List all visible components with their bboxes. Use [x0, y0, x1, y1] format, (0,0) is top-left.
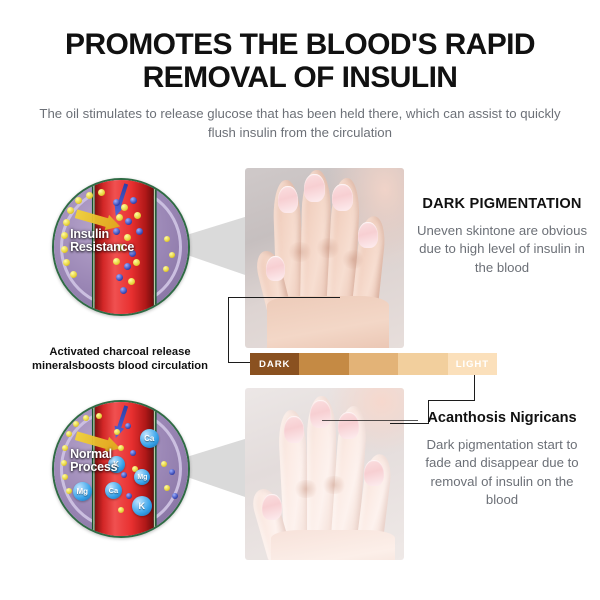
- scale-segment-4: [398, 353, 447, 375]
- infographic-root: PROMOTES THE BLOOD'S RAPID REMOVAL OF IN…: [0, 0, 600, 600]
- knuckle-shadow: [315, 238, 341, 258]
- hand-back: [271, 530, 395, 560]
- fingernail: [284, 416, 304, 443]
- page-subtitle: The oil stimulates to release glucose th…: [30, 104, 570, 142]
- knuckle-shadow: [287, 242, 313, 262]
- fingernail: [364, 460, 384, 486]
- info-block-acanthosis-nigricans: Acanthosis Nigricans Dark pigmentation s…: [416, 410, 588, 509]
- diagram-normal-process: Ca K Mg Ca Mg K Normal Process: [52, 400, 190, 538]
- connector-horizontal-light: [428, 400, 475, 401]
- info-body: Dark pigmentation start to fade and disa…: [416, 436, 588, 509]
- connector-vertical-top: [228, 297, 229, 363]
- label-line-2: Process: [70, 460, 117, 474]
- info-body: Uneven skintone are obvious due to high …: [416, 222, 588, 277]
- diagram-label-normal-process: Normal Process: [70, 448, 117, 475]
- header: PROMOTES THE BLOOD'S RAPID REMOVAL OF IN…: [0, 28, 600, 142]
- info-block-dark-pigmentation: DARK PIGMENTATION Uneven skintone are ob…: [416, 196, 588, 277]
- fingernail: [338, 412, 359, 439]
- label-line-2: Resistance: [70, 240, 134, 254]
- hand-back: [267, 296, 389, 348]
- knuckle-shadow: [293, 480, 319, 498]
- fingernail: [304, 174, 325, 202]
- knuckle-shadow: [321, 476, 347, 494]
- scale-segment-dark: DARK: [250, 353, 299, 375]
- connector-pointer-bottom: [322, 420, 418, 421]
- diagram-label-insulin-resistance: Insulin Resistance: [70, 228, 134, 255]
- photo-hand-dark-pigmentation: [245, 168, 404, 348]
- info-title: DARK PIGMENTATION: [416, 196, 588, 213]
- scale-label-dark: DARK: [250, 359, 299, 370]
- fingernail: [310, 400, 331, 428]
- zoom-fan-top: [182, 216, 248, 276]
- skin-tone-scale: DARK LIGHT: [250, 353, 497, 375]
- fingernail: [332, 184, 353, 211]
- connector-horizontal-top: [228, 297, 340, 298]
- fingernail: [278, 186, 298, 213]
- photo-hand-light-pigmentation: [245, 388, 404, 560]
- diagram-insulin-resistance: Insulin Resistance: [52, 178, 190, 316]
- connector-corner-top: [228, 362, 240, 363]
- scale-segment-2: [299, 353, 348, 375]
- connector-vertical-light: [474, 375, 475, 401]
- scale-segment-3: [349, 353, 398, 375]
- fingernail: [358, 222, 378, 248]
- mineral-bubble-ca-1: Ca: [140, 429, 159, 448]
- knuckle-shadow: [341, 250, 365, 269]
- zoom-fan-bottom: [182, 438, 248, 498]
- scale-segment-light: LIGHT: [448, 353, 497, 375]
- thumbnail: [262, 494, 282, 520]
- mineral-bubble-k-2: K: [132, 496, 152, 516]
- info-title: Acanthosis Nigricans: [416, 410, 588, 427]
- label-line-1: Normal: [70, 447, 112, 461]
- thumbnail: [266, 256, 285, 281]
- page-title: PROMOTES THE BLOOD'S RAPID REMOVAL OF IN…: [36, 28, 564, 94]
- diagram-caption: Activated charcoal release mineralsboost…: [24, 345, 216, 373]
- scale-label-light: LIGHT: [448, 359, 497, 370]
